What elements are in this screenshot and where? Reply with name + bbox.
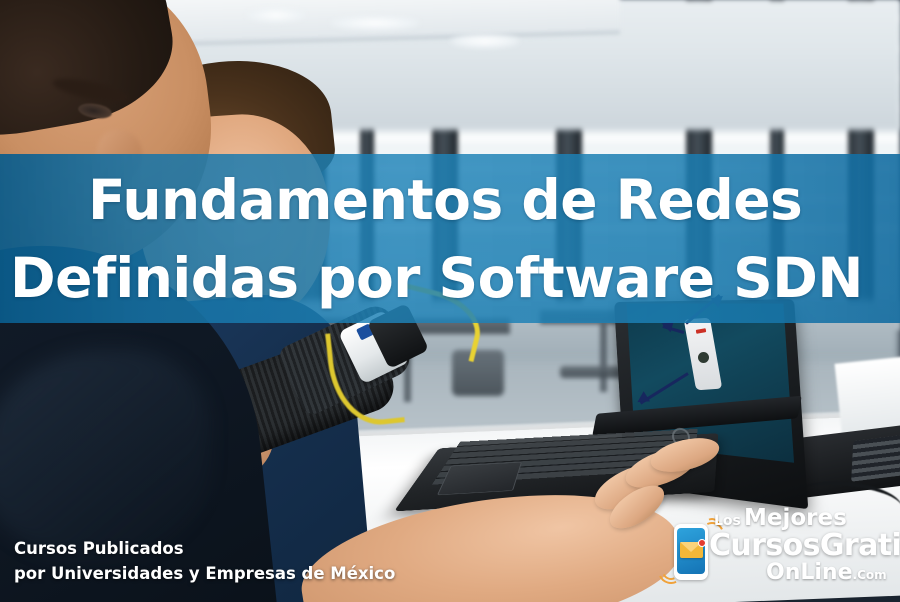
logo-word-mejores: Mejores	[744, 507, 847, 530]
logo-word-online: OnLine	[766, 560, 853, 585]
dock-ribs	[851, 434, 900, 481]
laptop-trackpad	[437, 462, 522, 495]
person-a-shirt-fold	[0, 350, 210, 560]
site-logo[interactable]: Los Mejores CursosGratis OnLine.Com	[666, 506, 898, 590]
logo-word-cursosgratis: CursosGratis	[709, 530, 900, 561]
logo-wordmark: Los Mejores CursosGratis OnLine.Com	[714, 506, 898, 532]
course-title-line-1: Fundamentos de Redes	[88, 161, 900, 239]
screen-diagram-dot	[698, 352, 709, 363]
caption-line-2: por Universidades y Empresas de México	[14, 561, 444, 586]
ceiling-lamp	[450, 34, 520, 48]
ceiling-lamp	[246, 8, 306, 22]
ceiling-lamp	[330, 16, 420, 30]
caption-line-1: Cursos Publicados	[14, 536, 444, 561]
white-object	[835, 357, 900, 434]
title-banner-text: Fundamentos de Redes Definidas por Softw…	[0, 154, 900, 323]
course-title-line-2: Definidas por Software SDN	[10, 239, 900, 317]
logo-word-los: Los	[714, 514, 741, 528]
caption-block: Cursos Publicados por Universidades y Em…	[14, 536, 444, 586]
logo-word-com: .Com	[853, 568, 887, 582]
course-banner-image: Fundamentos de Redes Definidas por Softw…	[0, 0, 900, 602]
